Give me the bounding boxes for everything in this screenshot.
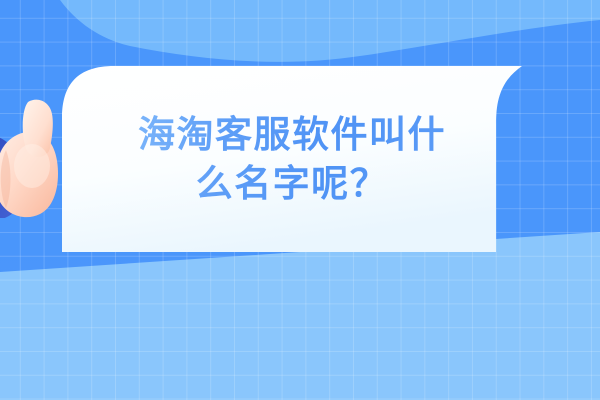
headline-wrap: 海淘客服软件叫什 么名字呢？ bbox=[62, 66, 522, 252]
page-title: 海淘客服软件叫什 么名字呢？ bbox=[138, 110, 446, 208]
headline-card: 海淘客服软件叫什 么名字呢？ bbox=[62, 66, 522, 252]
banner-graphic: 海淘客服软件叫什 么名字呢？ bbox=[0, 0, 600, 400]
